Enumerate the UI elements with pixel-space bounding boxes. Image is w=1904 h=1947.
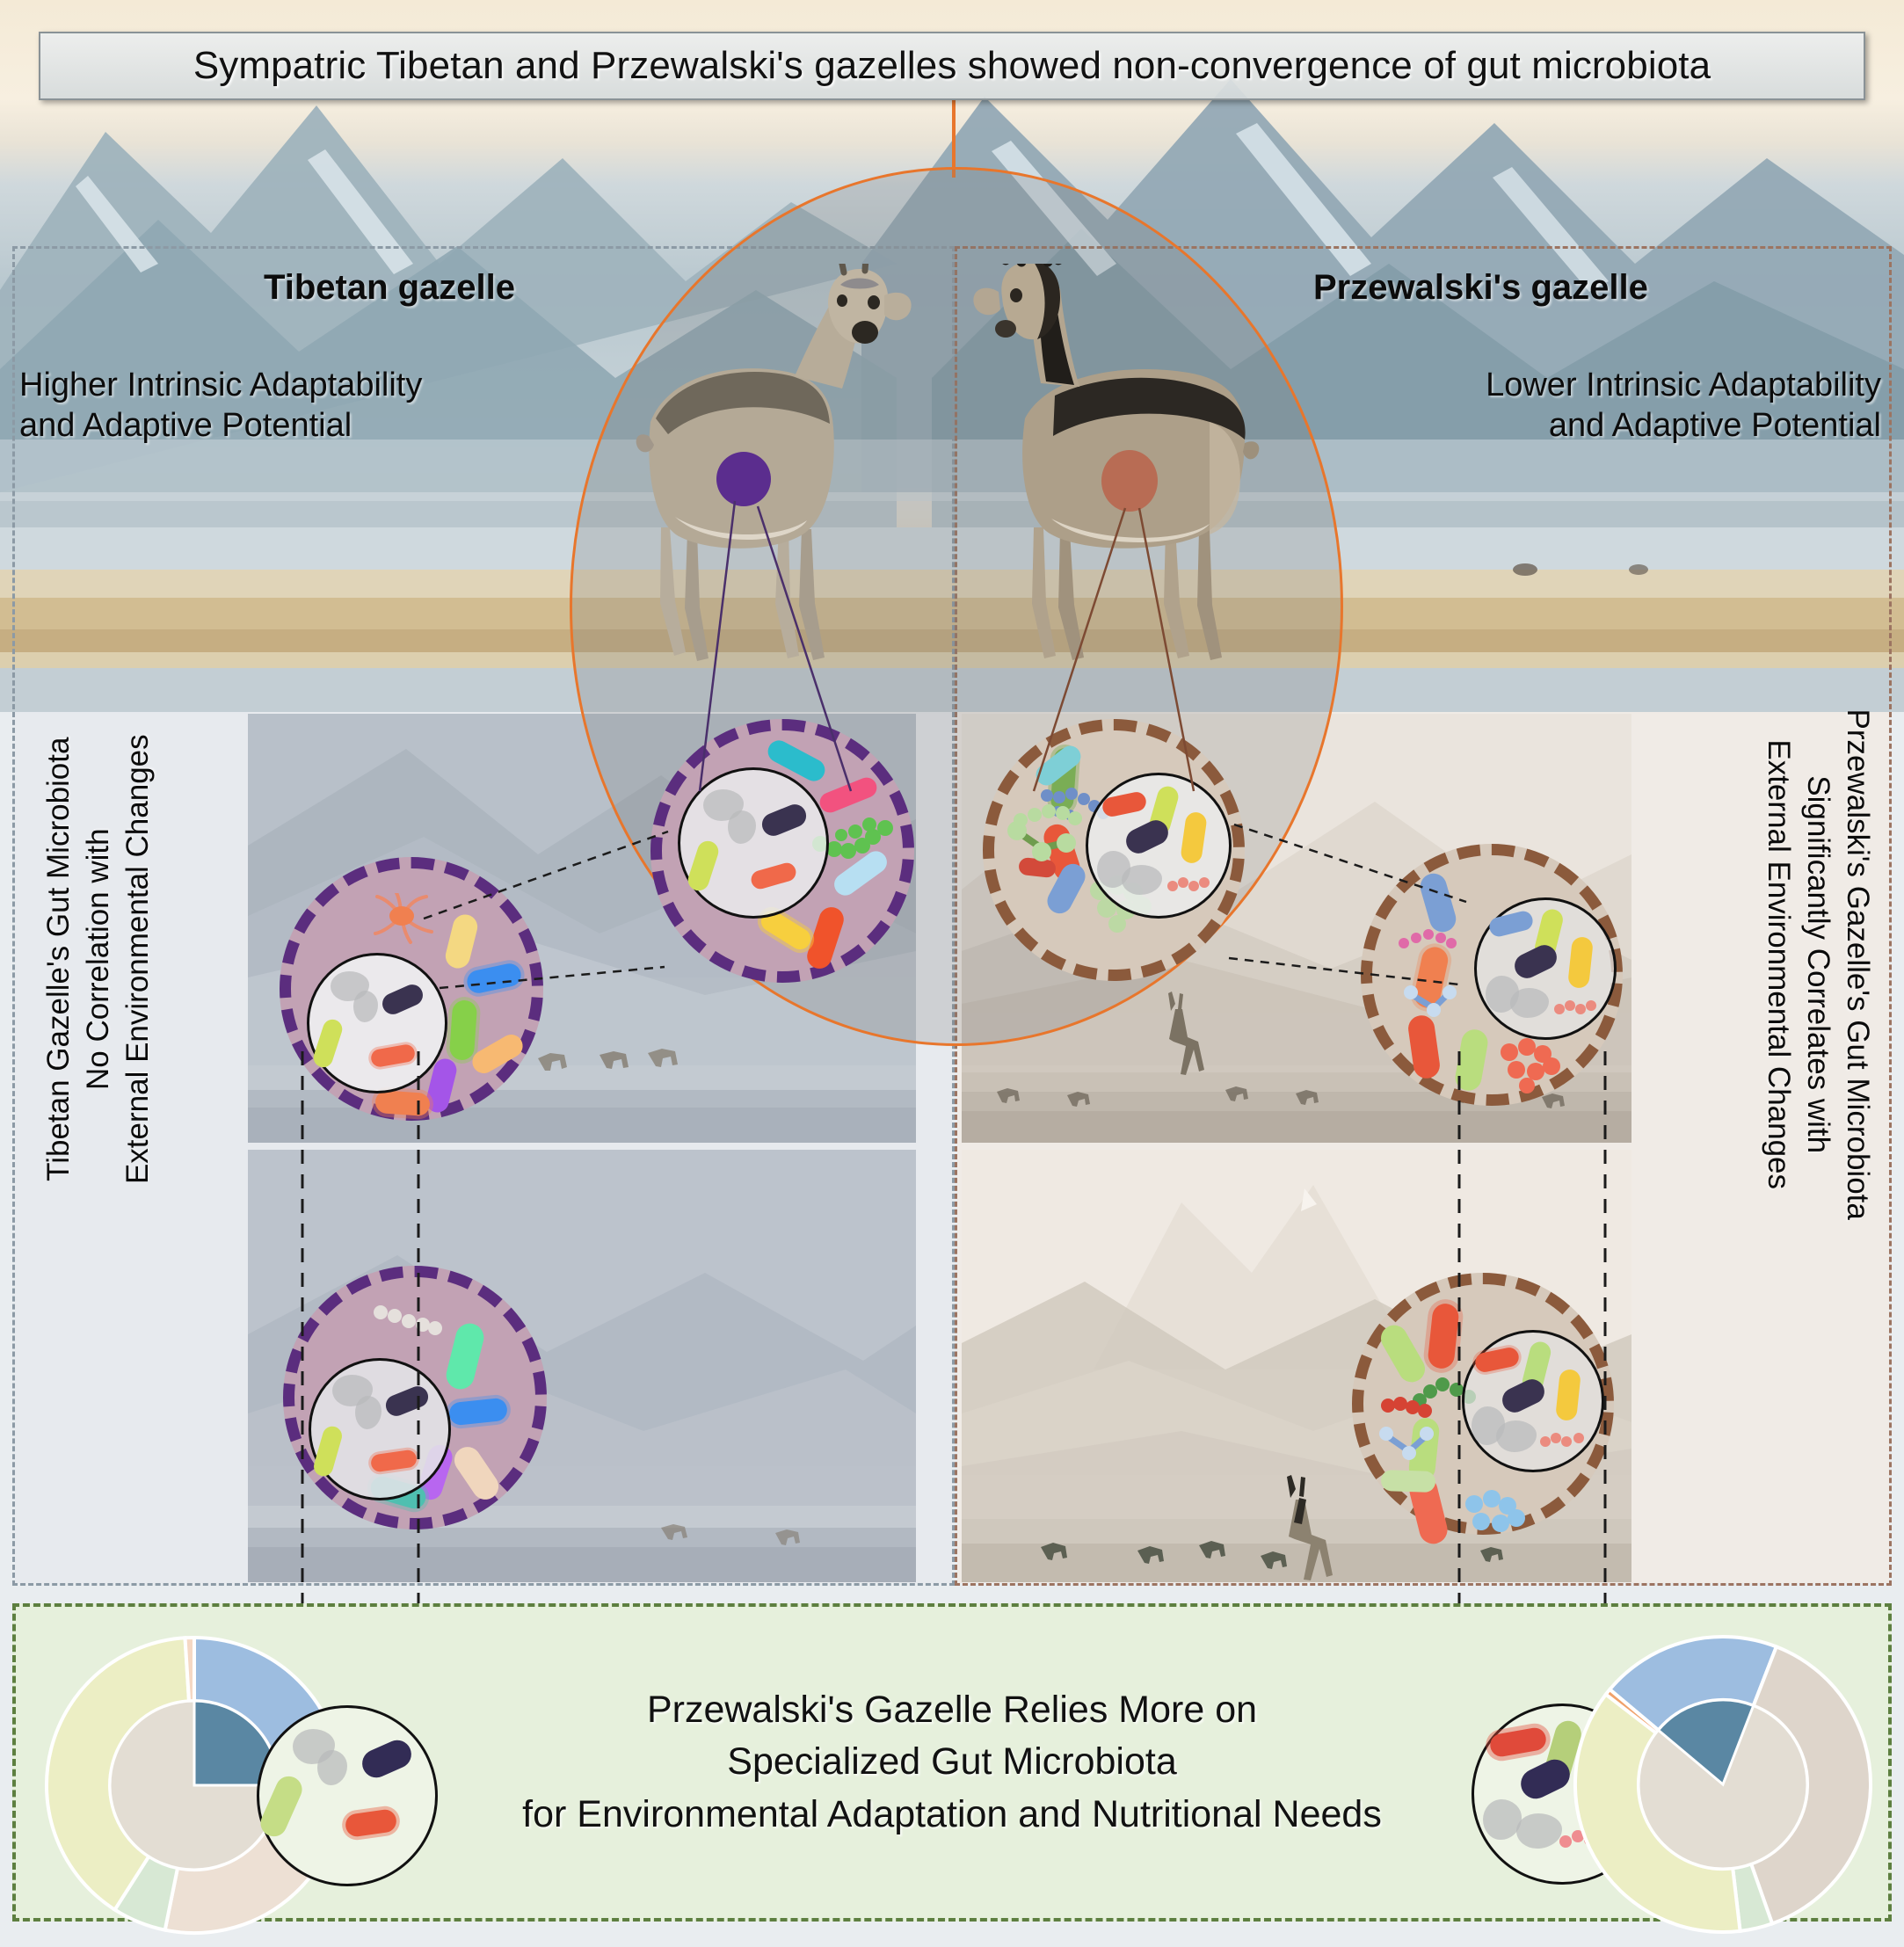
microbe-cluster-lightblue-grape xyxy=(1460,1488,1539,1546)
przewalski-core-inset-lower xyxy=(1462,1330,1604,1472)
conclusion-text: Przewalski's Gazelle Relies More on Spec… xyxy=(522,1684,1382,1841)
przewalski-gut-microbiota-circle-main xyxy=(983,719,1245,981)
tibetan-core-inset-lower xyxy=(309,1358,451,1500)
title-connector-line xyxy=(952,100,956,178)
tibetan-gut-microbiota-circle-upper xyxy=(280,857,543,1121)
page-title: Sympatric Tibetan and Przewalski's gazel… xyxy=(193,44,1711,88)
microbe-rod-palegreen xyxy=(1381,1470,1436,1493)
tibetan-side-caption: Tibetan Gazelle's Gut Microbiota No Corr… xyxy=(40,651,157,1267)
microbe-rod-red xyxy=(344,1808,397,1838)
microbe-rod-red xyxy=(1488,1726,1548,1759)
tibetan-gazelle-name: Tibetan gazelle xyxy=(264,268,515,308)
microbe-rod-navy xyxy=(358,1736,416,1783)
przewalski-side-caption: Przewalski's Gazelle's Gut Microbiota Si… xyxy=(1759,657,1877,1272)
microbe-chain-pale xyxy=(374,1304,444,1339)
graphical-abstract: Sympatric Tibetan and Przewalski's gazel… xyxy=(0,0,1904,1935)
tibetan-gazelle-trait: Higher Intrinsic Adaptability and Adapti… xyxy=(19,365,422,447)
microbe-rod-blue xyxy=(448,1398,508,1427)
microbe-rod-green xyxy=(257,1772,307,1841)
przewalski-gazelle-trait: Lower Intrinsic Adaptability and Adaptiv… xyxy=(1275,365,1881,447)
microbe-rod-blue xyxy=(465,962,523,995)
przewalski-gazelle-name: Przewalski's gazelle xyxy=(1313,268,1648,308)
przewalski-gut-marker xyxy=(1101,450,1158,512)
tibetan-core-microbiota-inset xyxy=(678,767,829,919)
microbe-rod-beige xyxy=(449,1442,504,1504)
microbe-rod-lightgreen xyxy=(1453,1028,1490,1093)
tibetan-gut-microbiota-circle-lower xyxy=(283,1266,547,1529)
tibetan-core-inset-upper xyxy=(307,953,447,1093)
przewalski-microbiota-donut-chart xyxy=(1565,1626,1881,1947)
microbe-rod-red xyxy=(1427,1303,1460,1370)
tibetan-gut-marker xyxy=(716,452,771,506)
microbe-rod-pink xyxy=(817,774,880,816)
tibetan-gut-microbiota-circle-main xyxy=(650,719,914,983)
microbe-cluster-blue xyxy=(1379,1427,1434,1467)
przewalski-core-microbiota-inset xyxy=(1086,773,1232,919)
przewalski-core-inset-upper xyxy=(1474,897,1617,1040)
microbe-rod-salmon xyxy=(374,1090,431,1116)
page-title-banner: Sympatric Tibetan and Przewalski's gazel… xyxy=(39,32,1865,100)
przewalski-gut-microbiota-circle-lower xyxy=(1352,1273,1614,1535)
microbe-rod-green xyxy=(449,999,478,1061)
microbe-rod-mint xyxy=(443,1320,486,1391)
microbe-cluster-green xyxy=(1007,822,1077,875)
tibetan-core-microbiota-summary-circle xyxy=(257,1705,438,1886)
microbe-chain-magenta xyxy=(1397,924,1458,959)
przewalski-gut-microbiota-circle-upper xyxy=(1361,844,1623,1106)
microbe-rod-cream xyxy=(443,912,480,971)
conclusion-panel: Przewalski's Gazelle Relies More on Spec… xyxy=(12,1603,1892,1922)
microbe-flagellate-orange xyxy=(368,893,439,946)
microbe-cluster-redgrape xyxy=(1495,1036,1574,1094)
microbe-cluster-blue-star xyxy=(1404,985,1457,1024)
